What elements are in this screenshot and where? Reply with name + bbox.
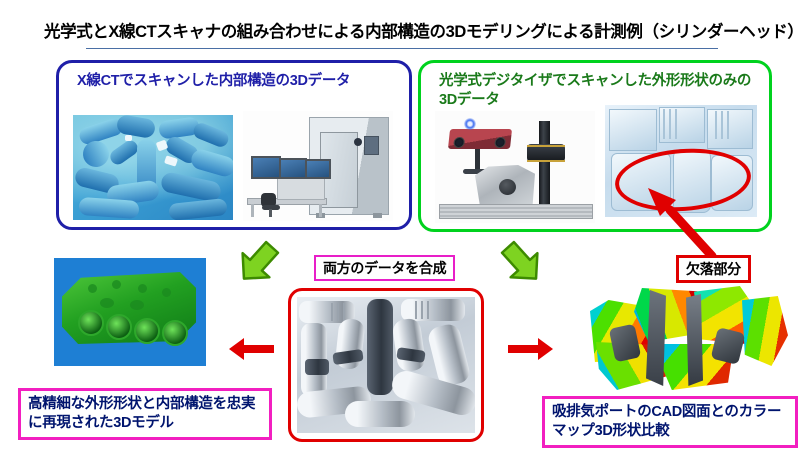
red-arrow-right xyxy=(508,337,554,361)
green-arrow-right xyxy=(500,240,544,286)
merge-data-label: 両方のデータを合成 xyxy=(314,255,455,281)
panel-xray-ct: X線CTでスキャンした内部構造の3Dデータ xyxy=(56,60,412,230)
optical-digitizer-photo xyxy=(435,111,595,223)
green-arrow-left xyxy=(236,240,280,286)
ct-internal-structure-render xyxy=(73,115,233,220)
colormap-comparison xyxy=(590,286,788,390)
ct-scanner-photo xyxy=(243,111,393,221)
green-3d-model xyxy=(54,258,206,366)
panel-optical-digitizer-heading: 光学式デジタイザでスキャンした外形形状のみの3Dデータ xyxy=(439,72,759,109)
combined-3d-model xyxy=(288,288,484,442)
slide-canvas: 光学式とX線CTスキャナの組み合わせによる内部構造の3Dモデリングによる計測例（… xyxy=(0,0,800,450)
left-result-label: 高精細な外形形状と内部構造を忠実に再現された3Dモデル xyxy=(18,388,272,440)
missing-part-label: 欠落部分 xyxy=(676,255,751,283)
title-divider xyxy=(86,48,718,49)
right-result-label: 吸排気ポートのCAD図面とのカラーマップ3D形状比較 xyxy=(542,396,798,448)
missing-part-pointer-arrow xyxy=(636,182,722,260)
red-arrow-left xyxy=(228,337,274,361)
page-title: 光学式とX線CTスキャナの組み合わせによる内部構造の3Dモデリングによる計測例（… xyxy=(44,18,760,42)
panel-xray-ct-heading: X線CTでスキャンした内部構造の3Dデータ xyxy=(77,72,399,91)
